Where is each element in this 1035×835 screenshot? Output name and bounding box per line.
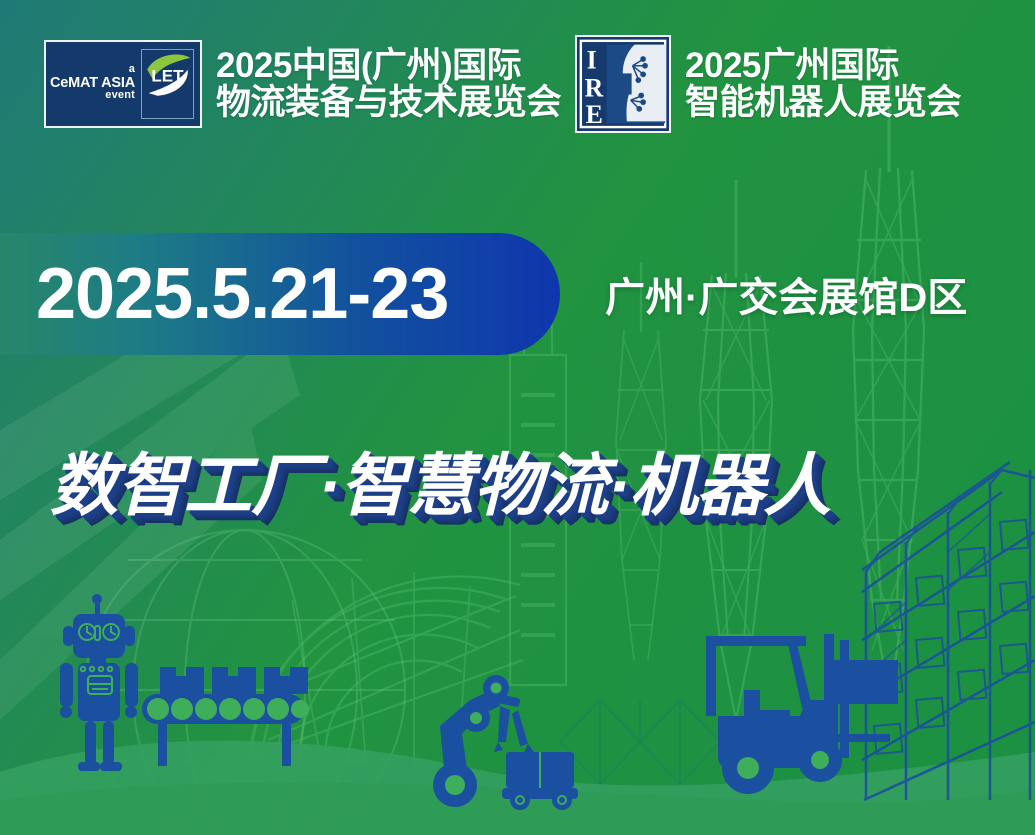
let-mark: LET <box>141 49 194 119</box>
svg-text:E: E <box>586 100 603 129</box>
event-slogan: 数智工厂·智慧物流·机器人 <box>50 438 830 534</box>
let-title-line-2: 物流装备与技术展览会 <box>216 84 561 121</box>
event-venue-text: 广州·广交会展馆D区 <box>605 264 967 324</box>
let-a-label: a <box>129 64 135 75</box>
svg-text:LET: LET <box>151 66 184 85</box>
let-title-line-1: 2025中国(广州)国际 <box>216 47 561 84</box>
banner-header: a CeMAT ASIA event LET 2025中国(广州)国际 物流装备… <box>0 0 1035 168</box>
ire-exhibition-title: 2025广州国际 智能机器人展览会 <box>685 47 961 121</box>
event-date-badge: 2025.5.21-23 <box>0 233 560 355</box>
event-date-text: 2025.5.21-23 <box>36 253 448 335</box>
svg-text:R: R <box>585 73 604 102</box>
ire-title-line-2: 智能机器人展览会 <box>685 84 961 121</box>
let-exhibition-title: 2025中国(广州)国际 物流装备与技术展览会 <box>216 47 561 121</box>
exhibition-banner: a CeMAT ASIA event LET 2025中国(广州)国际 物流装备… <box>0 0 1035 835</box>
let-logo-text: a CeMAT ASIA event <box>46 42 141 126</box>
ire-title-line-1: 2025广州国际 <box>685 47 961 84</box>
let-cemat-logo: a CeMAT ASIA event LET <box>44 40 202 128</box>
let-event-label: event <box>105 90 135 101</box>
slogan-block: 数智工厂·智慧物流·机器人 <box>50 438 830 534</box>
svg-text:I: I <box>587 46 597 75</box>
ire-logo: I R E <box>575 35 671 133</box>
let-brand-label: CeMAT ASIA <box>50 76 135 91</box>
